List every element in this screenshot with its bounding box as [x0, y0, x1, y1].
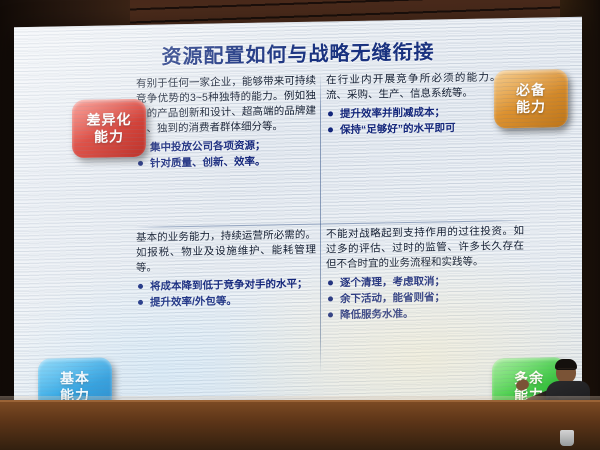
quadrant-top-left-bullets: 集中投放公司各项资源； 针对质量、创新、效率。 [136, 137, 316, 171]
projection-screen: 资源配置如何与战略无缝衔接 有别于任何一家企业，能够带来可持续竞争优势的3~5种… [14, 17, 582, 412]
badge-essential-capability: 必备 能力 [494, 69, 568, 128]
list-item: 逐个清理，考虑取消； [326, 273, 524, 291]
list-item: 集中投放公司各项资源； [136, 137, 316, 155]
presenter-glasses [558, 368, 575, 373]
list-item: 针对质量、创新、效率。 [136, 154, 316, 172]
badge-line-1: 差异化 [87, 112, 132, 129]
badge-line-2: 能力 [516, 98, 546, 115]
quadrant-bottom-left-bullets: 将成本降到低于竞争对手的水平； 提升效率/外包等。 [136, 276, 316, 310]
badge-line-2: 能力 [94, 128, 124, 145]
quadrant-bottom-left-paragraph: 基本的业务能力，持续运营所必需的。如报税、物业及设施维护、能耗管理等。 [136, 228, 316, 276]
stage-podium [0, 400, 600, 450]
quadrant-bottom-right-paragraph: 不能对战略起到支持作用的过往投资。如过多的评估、过时的监管、许多长久存在但不合时… [326, 224, 524, 272]
quadrant-bottom-left: 基本的业务能力，持续运营所必需的。如报税、物业及设施维护、能耗管理等。 将成本降… [136, 228, 316, 313]
list-item: 提升效率/外包等。 [136, 293, 316, 311]
quadrant-top-left: 有别于任何一家企业，能够带来可持续竞争优势的3~5种独特的能力。例如独特的产品创… [136, 74, 316, 173]
quadrant-bottom-right-bullets: 逐个清理，考虑取消； 余下活动，能省则省； 降低服务水准。 [326, 273, 524, 323]
water-glass [560, 430, 574, 446]
slide-title: 资源配置如何与战略无缝衔接 [14, 33, 582, 72]
list-item: 将成本降到低于竞争对手的水平； [136, 276, 316, 294]
list-item: 保持“足够好”的水平即可 [326, 120, 524, 138]
badge-differentiating-capability: 差异化 能力 [72, 99, 146, 158]
quadrant-bottom-right: 不能对战略起到支持作用的过往投资。如过多的评估、过时的监管、许多长久存在但不合时… [326, 224, 524, 325]
list-item: 余下活动，能省则省； [326, 289, 524, 307]
quadrant-top-left-paragraph: 有别于任何一家企业，能够带来可持续竞争优势的3~5种独特的能力。例如独特的产品创… [136, 74, 316, 137]
list-item: 降低服务水准。 [326, 305, 524, 323]
badge-line-1: 必备 [516, 82, 546, 99]
presentation-slide: 资源配置如何与战略无缝衔接 有别于任何一家企业，能够带来可持续竞争优势的3~5种… [14, 17, 582, 412]
screenshot-stage: 资源配置如何与战略无缝衔接 有别于任何一家企业，能够带来可持续竞争优势的3~5种… [0, 0, 600, 450]
badge-line-1: 基本 [60, 370, 90, 387]
quadrant-grid: 有别于任何一家企业，能够带来可持续竞争优势的3~5种独特的能力。例如独特的产品创… [134, 70, 524, 377]
